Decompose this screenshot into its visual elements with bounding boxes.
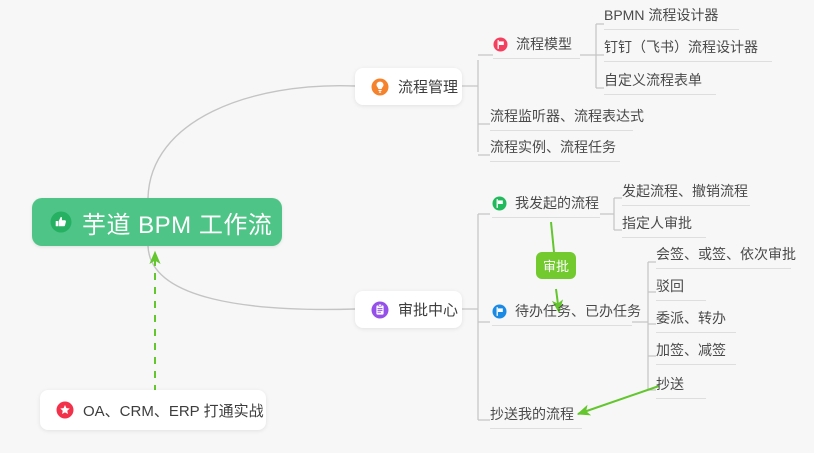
leaf-label-todo-done: 待办任务、已办任务 (515, 301, 641, 321)
leaf-start-cancel[interactable]: 发起流程、撤销流程 (622, 182, 750, 206)
leaf-process-instance[interactable]: 流程实例、流程任务 (490, 138, 620, 162)
flag-green-icon (492, 196, 507, 211)
leaf-label-add-remove-sign: 加签、减签 (656, 340, 726, 360)
star-icon (56, 401, 74, 419)
leaf-add-remove-sign[interactable]: 加签、减签 (656, 341, 736, 365)
mindmap-canvas: 芋道 BPM 工作流 OA、CRM、ERP 打通实战 流程管理 (0, 0, 814, 453)
leaf-label-reject: 驳回 (656, 276, 684, 296)
edge-root-to-approval-center (148, 246, 355, 309)
leaf-reject[interactable]: 驳回 (656, 277, 706, 301)
branch-label-approval-center: 审批中心 (398, 299, 458, 320)
leaf-todo-done[interactable]: 待办任务、已办任务 (492, 301, 632, 326)
leaf-countersign[interactable]: 会签、或签、依次审批 (656, 245, 791, 269)
leaf-label-process-instance: 流程实例、流程任务 (490, 137, 616, 157)
branch-label-process-management: 流程管理 (398, 76, 458, 97)
leaf-delegate-transfer[interactable]: 委派、转办 (656, 309, 736, 333)
branch-node-process-management[interactable]: 流程管理 (355, 68, 462, 105)
leaf-custom-form[interactable]: 自定义流程表单 (604, 71, 716, 95)
flag-blue-icon (492, 304, 507, 319)
branch-node-approval-center[interactable]: 审批中心 (355, 291, 462, 328)
lightbulb-icon (371, 78, 389, 96)
leaf-label-process-listener: 流程监听器、流程表达式 (490, 106, 644, 126)
leaf-label-bpmn-designer: BPMN 流程设计器 (604, 5, 718, 25)
badge-approval-label: 审批 (543, 256, 569, 275)
leaf-label-cc: 抄送 (656, 374, 684, 394)
leaf-bpmn-designer[interactable]: BPMN 流程设计器 (604, 6, 739, 30)
leaf-process-model[interactable]: 流程模型 (493, 34, 580, 59)
leaf-my-initiated[interactable]: 我发起的流程 (492, 193, 600, 218)
edge-root-to-process-management (148, 86, 355, 198)
floating-node-label: OA、CRM、ERP 打通实战 (83, 400, 264, 421)
leaf-assignee-approve[interactable]: 指定人审批 (622, 214, 706, 238)
flag-red-icon (493, 37, 508, 52)
leaf-cc[interactable]: 抄送 (656, 375, 706, 399)
leaf-label-cc-to-me: 抄送我的流程 (490, 404, 574, 424)
badge-approval[interactable]: 审批 (536, 252, 576, 279)
leaf-label-process-model: 流程模型 (516, 34, 572, 54)
floating-node-oa-crm-erp[interactable]: OA、CRM、ERP 打通实战 (40, 390, 266, 430)
leaf-cc-to-me[interactable]: 抄送我的流程 (490, 405, 582, 429)
arrow-cc-to-ccme (578, 386, 659, 414)
leaf-process-listener[interactable]: 流程监听器、流程表达式 (490, 107, 633, 131)
leaf-label-start-cancel: 发起流程、撤销流程 (622, 181, 748, 201)
root-node[interactable]: 芋道 BPM 工作流 (32, 198, 282, 246)
leaf-label-assignee-approve: 指定人审批 (622, 213, 692, 233)
arrow-approval-upper (551, 222, 554, 252)
thumbs-up-icon (50, 211, 72, 233)
leaf-label-dingtalk-designer: 钉钉（飞书）流程设计器 (604, 37, 758, 57)
leaf-label-delegate-transfer: 委派、转办 (656, 308, 726, 328)
leaf-label-countersign: 会签、或签、依次审批 (656, 244, 796, 264)
clipboard-icon (371, 301, 389, 319)
leaf-label-my-initiated: 我发起的流程 (515, 193, 599, 213)
leaf-dingtalk-designer[interactable]: 钉钉（飞书）流程设计器 (604, 38, 772, 62)
root-label: 芋道 BPM 工作流 (82, 205, 272, 240)
leaf-label-custom-form: 自定义流程表单 (604, 70, 702, 90)
